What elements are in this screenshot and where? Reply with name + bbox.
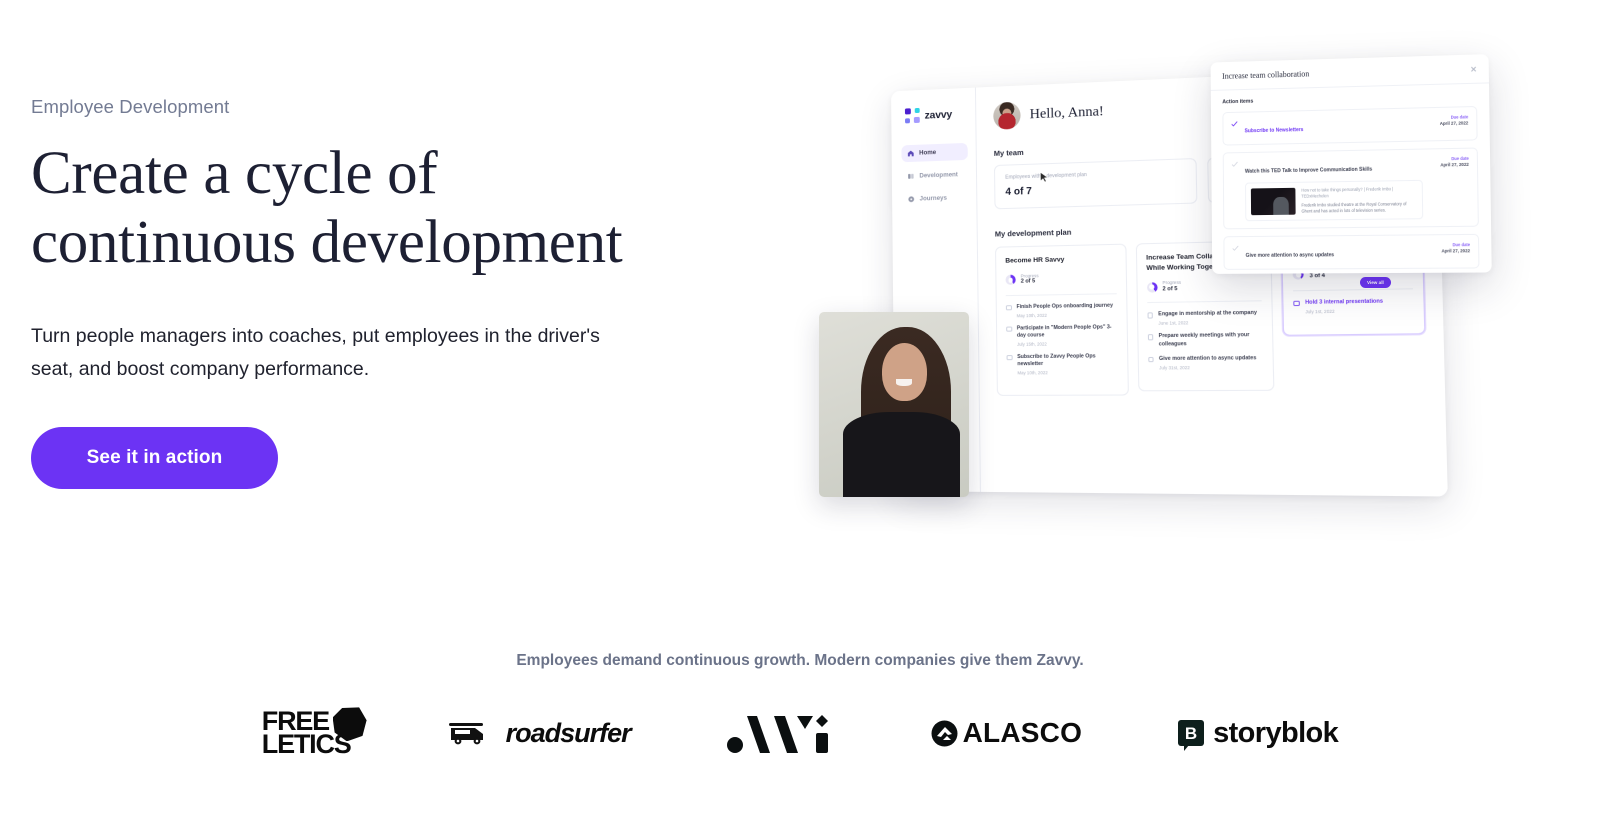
video-description: Frederik Imbo studied theatre at the Roy… (1301, 201, 1417, 215)
greeting-text: Hello, Anna! (1030, 104, 1104, 123)
sidebar-item-journeys[interactable]: Journeys (902, 189, 969, 208)
checkbox[interactable] (1148, 357, 1154, 363)
avatar (993, 102, 1021, 130)
check-icon (1231, 121, 1238, 128)
view-all-button[interactable]: View all (1360, 277, 1391, 288)
task-text: Engage in mentorship at the company (1158, 310, 1257, 319)
check-icon (1231, 161, 1238, 168)
progress-ring-icon (1147, 282, 1158, 293)
task-text: Participate in "Modern People Ops" 3-day… (1017, 324, 1117, 340)
modal-title: Increase team collaboration (1222, 69, 1309, 80)
sidebar-item-label: Development (919, 171, 958, 179)
due-date-value: April 27, 2022 (1440, 162, 1469, 168)
book-icon (908, 173, 915, 180)
camper-van-icon (447, 720, 499, 746)
hero-title-line-2: continuous development (31, 209, 691, 278)
task-date: June 1st, 2022 (1158, 319, 1257, 325)
progress-row: Progress 2 of 5 (1005, 271, 1116, 287)
task-item[interactable]: Hold 3 internal presentations July 1st, … (1294, 298, 1414, 315)
stat-label: Employees with a development plan (1005, 169, 1184, 181)
video-card[interactable]: How not to take things personally? | Fre… (1245, 180, 1423, 222)
action-item[interactable]: Watch this TED Talk to Improve Communica… (1223, 147, 1479, 229)
page-title: Create a cycle of continuous development (31, 140, 691, 278)
plan-card[interactable]: Become HR Savvy Progress 2 of 5 (995, 244, 1129, 396)
zavvy-wordmark: zavvy (925, 108, 952, 121)
progress-value: 3 of 4 (1309, 273, 1329, 281)
zavvy-logo: zavvy (901, 106, 967, 124)
progress-value: 2 of 5 (1163, 286, 1182, 294)
roadsurfer-wordmark: roadsurfer (506, 718, 631, 749)
checkbox[interactable] (1006, 326, 1012, 332)
action-item[interactable]: Subscribe to Newsletters Due date April … (1222, 106, 1477, 146)
due-date-label: Due date (1440, 156, 1469, 162)
sidebar-item-development[interactable]: Development (902, 166, 969, 185)
compass-icon (908, 196, 915, 203)
due-date-value: April 27, 2022 (1440, 120, 1469, 126)
task-item[interactable]: Engage in mentorship at the company June… (1147, 310, 1262, 326)
hero-eyebrow: Employee Development (31, 96, 691, 118)
sidebar-item-label: Journeys (920, 195, 947, 203)
action-items-modal: Increase team collaboration Action items… (1211, 54, 1492, 274)
task-item[interactable]: Participate in "Modern People Ops" 3-day… (1006, 324, 1117, 347)
task-text: Finish People Ops onboarding journey (1017, 302, 1114, 311)
close-icon[interactable] (1470, 66, 1476, 72)
logo-roadsurfer: roadsurfer (447, 700, 631, 766)
alasco-wordmark: ALASCO (963, 717, 1082, 749)
action-item-text: Give more attention to async updates (1246, 253, 1334, 260)
home-icon (907, 150, 914, 157)
checkbox[interactable] (1147, 313, 1153, 319)
alasco-mark-icon (931, 720, 958, 747)
checkbox[interactable] (1148, 334, 1154, 340)
video-title: How not to take things personally? | Fre… (1301, 186, 1417, 200)
task-text: Subscribe to Zavvy People Ops newsletter (1017, 353, 1117, 369)
divider (1006, 293, 1117, 296)
see-it-in-action-button[interactable]: See it in action (31, 427, 278, 489)
task-item[interactable]: Give more attention to async updates Jul… (1148, 355, 1264, 370)
due-date-block: Due date April 27, 2022 (1441, 243, 1470, 254)
logo-avi (727, 700, 835, 766)
storyblok-mark-icon: B (1178, 720, 1204, 746)
hero-copy: Employee Development Create a cycle of c… (31, 96, 691, 387)
logo-freeletics: FREE LETICS (262, 700, 351, 766)
progress-ring-icon (1005, 275, 1015, 285)
divider (1293, 288, 1413, 291)
due-date-value: April 27, 2022 (1441, 249, 1470, 254)
storyblok-wordmark: storyblok (1213, 717, 1338, 750)
video-thumbnail (1251, 188, 1296, 215)
task-date: July 1st, 2022 (1305, 308, 1383, 314)
task-item[interactable]: Finish People Ops onboarding journey May… (1006, 302, 1117, 318)
due-date-block: Due date April 27, 2022 (1440, 156, 1469, 168)
task-text: Give more attention to async updates (1159, 355, 1256, 363)
logo-storyblok: B storyblok (1178, 700, 1338, 766)
checkbox[interactable] (1294, 300, 1300, 306)
task-date: July 31st, 2022 (1159, 364, 1256, 370)
stat-card: Employees with a development plan 4 of 7 (994, 158, 1197, 209)
task-date: May 10th, 2022 (1017, 370, 1117, 376)
checkbox[interactable] (1007, 355, 1013, 361)
due-date-label: Due date (1440, 114, 1469, 120)
sidebar-item-label: Home (919, 149, 936, 157)
task-text: Prepare weekly meetings with your collea… (1159, 332, 1263, 349)
task-date: May 10th, 2022 (1017, 311, 1114, 317)
logo-alasco: ALASCO (931, 700, 1082, 766)
action-item[interactable]: Give more attention to async updates Due… (1223, 234, 1479, 270)
task-text: Hold 3 internal presentations (1305, 298, 1383, 307)
logo-strip: FREE LETICS roadsurfer (0, 700, 1600, 766)
divider (1147, 301, 1262, 304)
avi-mark-icon (727, 712, 835, 754)
action-item-text: Watch this TED Talk to Improve Communica… (1245, 167, 1372, 175)
progress-value: 2 of 5 (1021, 279, 1039, 287)
progress-row: Progress 2 of 5 (1147, 278, 1262, 294)
check-icon (1232, 245, 1239, 252)
due-date-block: Due date April 27, 2022 (1440, 114, 1469, 126)
my-development-plan-label: My development plan (995, 228, 1072, 239)
action-item-text: Subscribe to Newsletters (1245, 127, 1304, 134)
stat-value: 4 of 7 (1005, 181, 1185, 198)
checkbox[interactable] (1006, 305, 1012, 311)
social-proof-tagline: Employees demand continuous growth. Mode… (0, 652, 1600, 670)
action-items-label: Action items (1222, 93, 1477, 105)
zavvy-mark-icon (905, 108, 920, 123)
hero-title-line-1: Create a cycle of (31, 140, 691, 209)
product-mockup: zavvy Home Development (815, 40, 1515, 510)
task-item[interactable]: Subscribe to Zavvy People Ops newsletter… (1007, 353, 1118, 376)
task-item[interactable]: Prepare weekly meetings with your collea… (1148, 332, 1263, 349)
employee-photo (819, 312, 969, 497)
modal-body: Action items Subscribe to Newsletters Du… (1211, 83, 1492, 270)
storyblok-mark-letter: B (1185, 725, 1197, 742)
landing-page: Employee Development Create a cycle of c… (0, 0, 1600, 833)
freeletics-line-2: LETICS (262, 733, 351, 756)
sidebar-item-home[interactable]: Home (901, 143, 967, 162)
due-date-label: Due date (1441, 243, 1470, 248)
hero-subtitle: Turn people managers into coaches, put e… (31, 320, 621, 387)
plan-card-title: Become HR Savvy (1005, 254, 1116, 266)
task-date: July 15th, 2022 (1017, 341, 1117, 347)
